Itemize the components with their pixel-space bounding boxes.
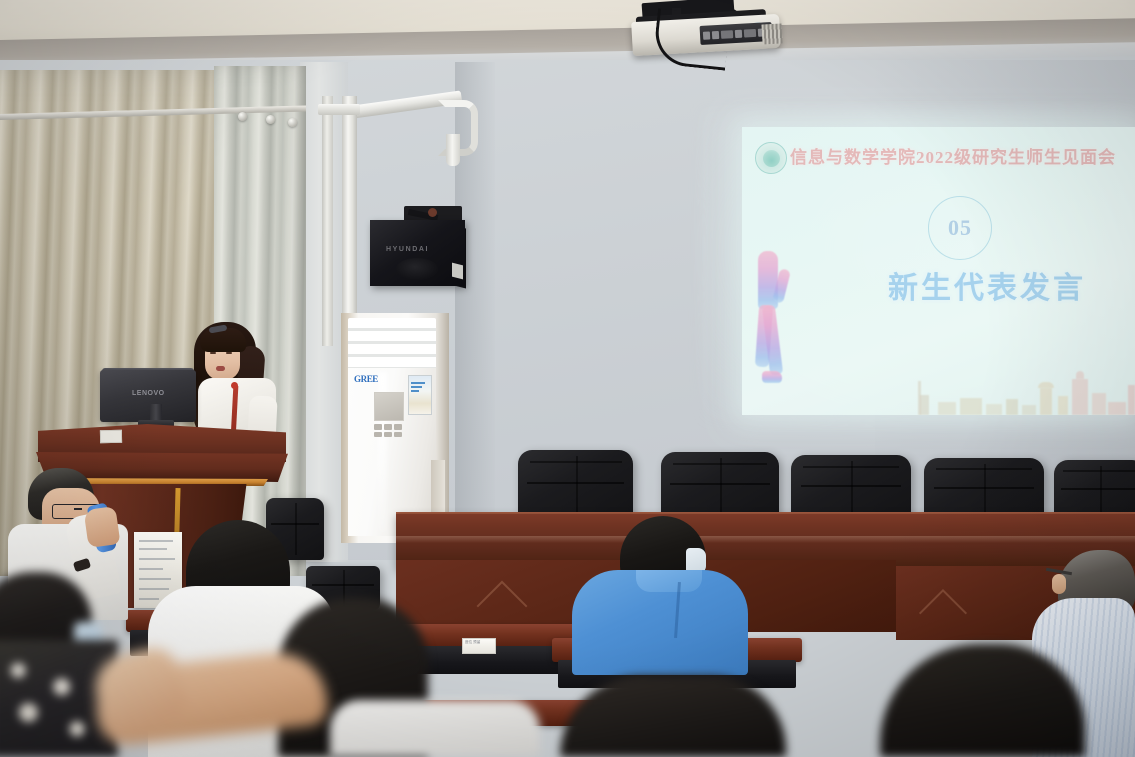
audience-ear — [1052, 574, 1066, 594]
presenter-mouth — [216, 366, 225, 371]
air-conditioner-brand-label: GREE — [354, 374, 378, 384]
lecture-hall-photo: 信息与数学学院2022级研究生师生见面会 05 新生代表发言 — [0, 0, 1135, 757]
foreground-hair — [560, 676, 786, 757]
curtain-ring — [288, 118, 297, 127]
slide-section-badge: 05 — [928, 196, 992, 260]
energy-rating-label — [408, 375, 432, 415]
slide-section-title: 新生代表发言 — [888, 263, 1086, 307]
air-conditioner-display — [374, 392, 404, 421]
pipe-vertical-main — [342, 96, 357, 346]
pipe-collar — [318, 104, 360, 115]
air-conditioner-vent-grill — [348, 318, 436, 370]
pipe-downspout — [446, 134, 460, 166]
university-seal-icon — [755, 142, 787, 174]
monitor-brand-label: LENOVO — [132, 390, 165, 397]
speaker-driver-icon — [396, 258, 438, 280]
speaker-bracket-knob — [428, 208, 437, 217]
pipe-vertical-secondary — [322, 96, 333, 346]
slide-header-title: 信息与数学学院2022级研究生师生见面会 — [790, 143, 1116, 168]
eyeglasses-bridge — [74, 508, 82, 510]
projector-vent — [761, 23, 782, 44]
shirt-collar — [636, 570, 702, 592]
air-conditioner-buttons[interactable] — [374, 424, 402, 437]
man-hand — [84, 506, 121, 548]
curtain-ring — [238, 112, 247, 121]
head-table-reflection — [396, 536, 1135, 543]
presenter-bangs — [200, 328, 246, 352]
projected-slide: 信息与数学学院2022级研究生师生见面会 05 新生代表发言 — [742, 127, 1135, 415]
seat-reservation-card: 座位 预留 — [462, 638, 496, 654]
speaker-brand-label: HYUNDAI — [386, 246, 429, 253]
city-skyline-silhouette-icon — [742, 367, 1135, 415]
foreground-torso — [330, 700, 540, 757]
podium-monitor[interactable]: LENOVO — [100, 370, 196, 422]
wall-speaker: HYUNDAI — [370, 220, 465, 286]
slide-section-number: 05 — [948, 215, 972, 241]
podium-asset-tag — [100, 430, 122, 443]
curtain-ring — [266, 115, 275, 124]
microphone-icon — [231, 382, 238, 389]
speaker-rating-sticker — [452, 263, 463, 280]
